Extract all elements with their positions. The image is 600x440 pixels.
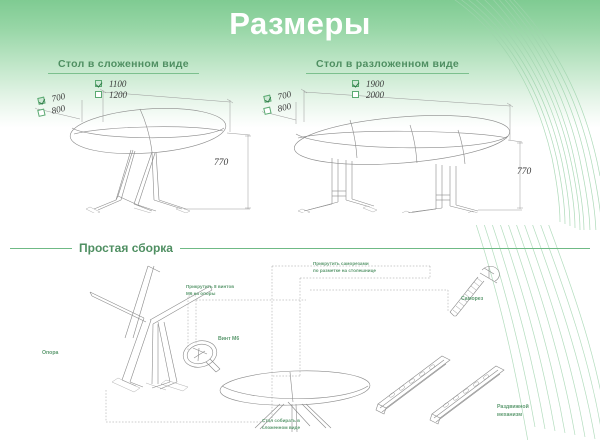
bolt-m6-drawing (180, 337, 220, 372)
dimensions-assembly-sheet: Размеры Стол в сложенном виде Стол в раз… (0, 0, 600, 440)
assembly-note-assemble-folded: Стол собирать в сложенном виде (262, 418, 300, 431)
checkbox-unchecked-icon[interactable] (37, 109, 45, 117)
folded-width-value-1: 800 (51, 102, 66, 115)
folded-width-options: 700 800 (38, 96, 66, 119)
checkbox-unchecked-icon[interactable] (95, 91, 102, 98)
assembly-heading: Простая сборка (72, 241, 180, 255)
checkbox-unchecked-icon[interactable] (352, 91, 359, 98)
assembly-rule-right (180, 248, 590, 249)
part-label-support: Опора (42, 350, 58, 358)
unfolded-width-options: 700 800 (264, 94, 292, 117)
slide-mechanism-drawing (376, 356, 504, 424)
unfolded-length-value-0: 1900 (366, 79, 384, 89)
part-label-slide-mechanism: Раздвижной механизм (497, 404, 529, 419)
checkbox-checked-icon[interactable] (37, 97, 45, 105)
folded-height-label: 770 (214, 158, 228, 168)
unfolded-length-option-0: 1900 (352, 78, 384, 89)
assembly-note-screw-legs: Прикрутить 8 винтов М6 на опоры (186, 284, 234, 297)
assembly-rule-left (10, 248, 72, 249)
unfolded-width-value-1: 800 (277, 100, 292, 113)
part-label-bolt-m6: Винт М6 (218, 336, 239, 344)
part-label-self-tapping-screw: Саморез (461, 296, 483, 304)
assembly-section-header: Простая сборка (10, 240, 590, 256)
unfolded-length-options: 1900 2000 (352, 78, 384, 100)
checkbox-unchecked-icon[interactable] (263, 107, 271, 115)
page-title: Размеры (0, 6, 600, 42)
folded-table-drawing (34, 78, 284, 213)
checkbox-checked-icon[interactable] (263, 95, 271, 103)
self-tapping-screw-drawing (450, 266, 499, 316)
checkbox-checked-icon[interactable] (352, 80, 359, 87)
checkbox-checked-icon[interactable] (95, 80, 102, 87)
folded-length-option-0: 1100 (95, 78, 127, 89)
section-heading-folded: Стол в сложенном виде (58, 58, 189, 70)
section-heading-unfolded: Стол в разложенном виде (316, 58, 459, 70)
folded-length-value-1: 1200 (109, 90, 127, 100)
unfolded-height-label: 770 (517, 167, 531, 177)
folded-length-value-0: 1100 (109, 79, 126, 89)
unfolded-length-value-1: 2000 (366, 90, 384, 100)
unfolded-length-option-1: 2000 (352, 89, 384, 100)
assembly-note-screw-tabletop: Прикрутить саморезами по разметке на сто… (313, 261, 376, 274)
unfolded-table-drawing (262, 78, 552, 213)
folded-length-options: 1100 1200 (95, 78, 127, 100)
folded-length-option-1: 1200 (95, 89, 127, 100)
